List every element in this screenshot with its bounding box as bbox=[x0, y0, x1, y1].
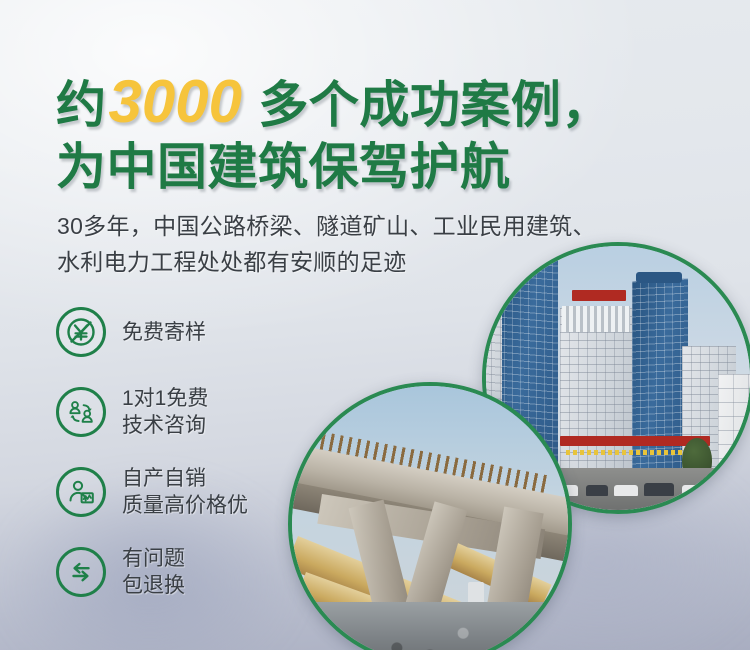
feature-label-line-1: 1对1免费 bbox=[122, 385, 208, 412]
feature-label-line-1: 有问题 bbox=[122, 545, 185, 572]
feature-label-return-exchange: 有问题 包退换 bbox=[122, 545, 185, 599]
feature-label-line-2: 质量高价格优 bbox=[122, 492, 248, 519]
promo-banner: 约3000 多个成功案例， 为中国建筑保驾护航 30多年，中国公路桥梁、隧道矿山… bbox=[0, 0, 750, 650]
building-upper-sign bbox=[572, 290, 626, 301]
feature-label-self-production: 自产自销 质量高价格优 bbox=[122, 465, 248, 519]
building-left-crown bbox=[504, 248, 548, 260]
headline-line-2: 为中国建筑保驾护航 bbox=[56, 142, 716, 192]
bridge-rubble-texture bbox=[292, 598, 568, 650]
headline-block: 约3000 多个成功案例， 为中国建筑保驾护航 bbox=[56, 72, 716, 192]
feature-label-free-sample: 免费寄样 bbox=[122, 319, 206, 346]
headline-line-1: 约3000 多个成功案例， bbox=[56, 72, 716, 132]
headline-number: 3000 bbox=[107, 68, 244, 135]
headline-prefix: 约 bbox=[56, 77, 107, 133]
bridge-photo-content bbox=[292, 386, 568, 650]
building-car bbox=[614, 485, 638, 496]
feature-label-consultation: 1对1免费 技术咨询 bbox=[122, 385, 208, 439]
one-on-one-consultation-icon bbox=[56, 387, 106, 437]
return-exchange-arrows-icon bbox=[56, 547, 106, 597]
building-car bbox=[682, 485, 704, 496]
building-car bbox=[586, 485, 608, 496]
headline-suffix: 多个成功案例， bbox=[244, 77, 612, 133]
feature-label-line-1: 自产自销 bbox=[122, 465, 248, 492]
building-right-crown bbox=[636, 272, 682, 283]
subtitle-line-1: 30多年，中国公路桥梁、隧道矿山、工业民用建筑、 bbox=[57, 208, 737, 244]
feature-label-line-2: 包退换 bbox=[122, 572, 185, 599]
free-sample-yuan-slash-icon bbox=[56, 307, 106, 357]
building-car bbox=[644, 483, 674, 496]
bridge-photo bbox=[288, 382, 572, 650]
self-production-sales-icon bbox=[56, 467, 106, 517]
feature-item-free-sample[interactable]: 免费寄样 bbox=[56, 296, 356, 368]
building-center-colonnade bbox=[562, 306, 630, 332]
feature-label-line-2: 技术咨询 bbox=[122, 412, 208, 439]
feature-label-line-1: 免费寄样 bbox=[122, 319, 206, 346]
